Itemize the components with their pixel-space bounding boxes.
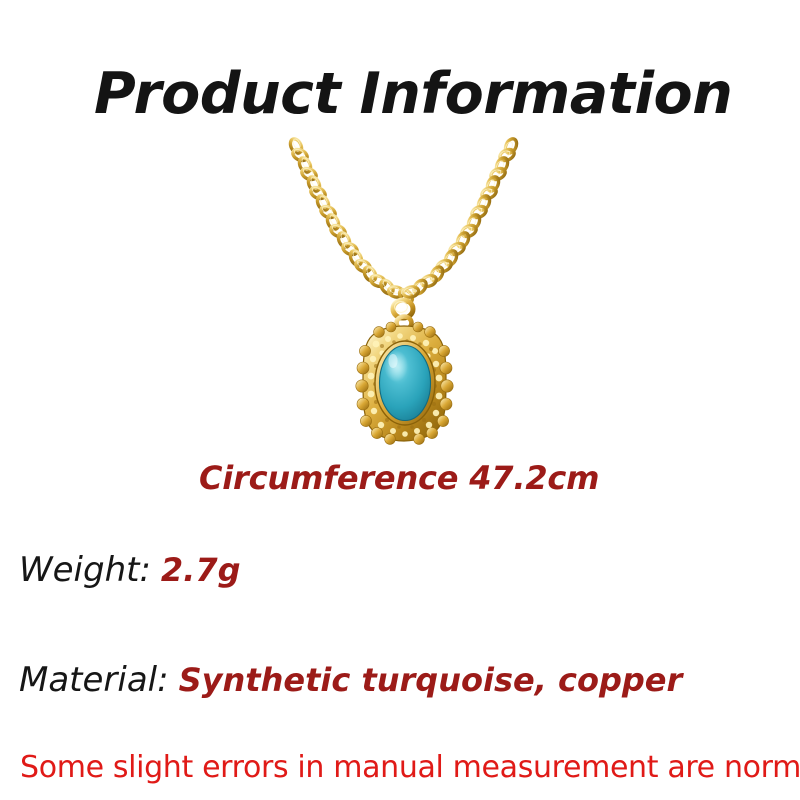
spec-material-value: Synthetic turquoise, copper	[179, 661, 683, 699]
measurement-disclaimer: Some slight errors in manual measurement…	[20, 748, 782, 788]
spec-weight-value: 2.7g	[161, 551, 241, 589]
stone-specular	[388, 354, 397, 368]
product-photo	[230, 130, 580, 460]
pendant-bail	[393, 300, 413, 330]
product-information-page: Product Information	[0, 0, 800, 800]
spec-weight-label: Weight:	[19, 550, 151, 590]
spec-material-label: Material:	[19, 660, 169, 700]
chain-left	[288, 137, 415, 305]
pendant	[356, 322, 453, 444]
spec-circumference: Circumference 47.2cm	[199, 458, 599, 498]
spec-material: Material:Synthetic turquoise, copper	[19, 658, 682, 702]
chain-right	[402, 137, 518, 299]
page-title: Product Information	[94, 62, 718, 126]
necklace-illustration	[230, 130, 580, 460]
spec-weight: Weight:2.7g	[19, 548, 241, 592]
